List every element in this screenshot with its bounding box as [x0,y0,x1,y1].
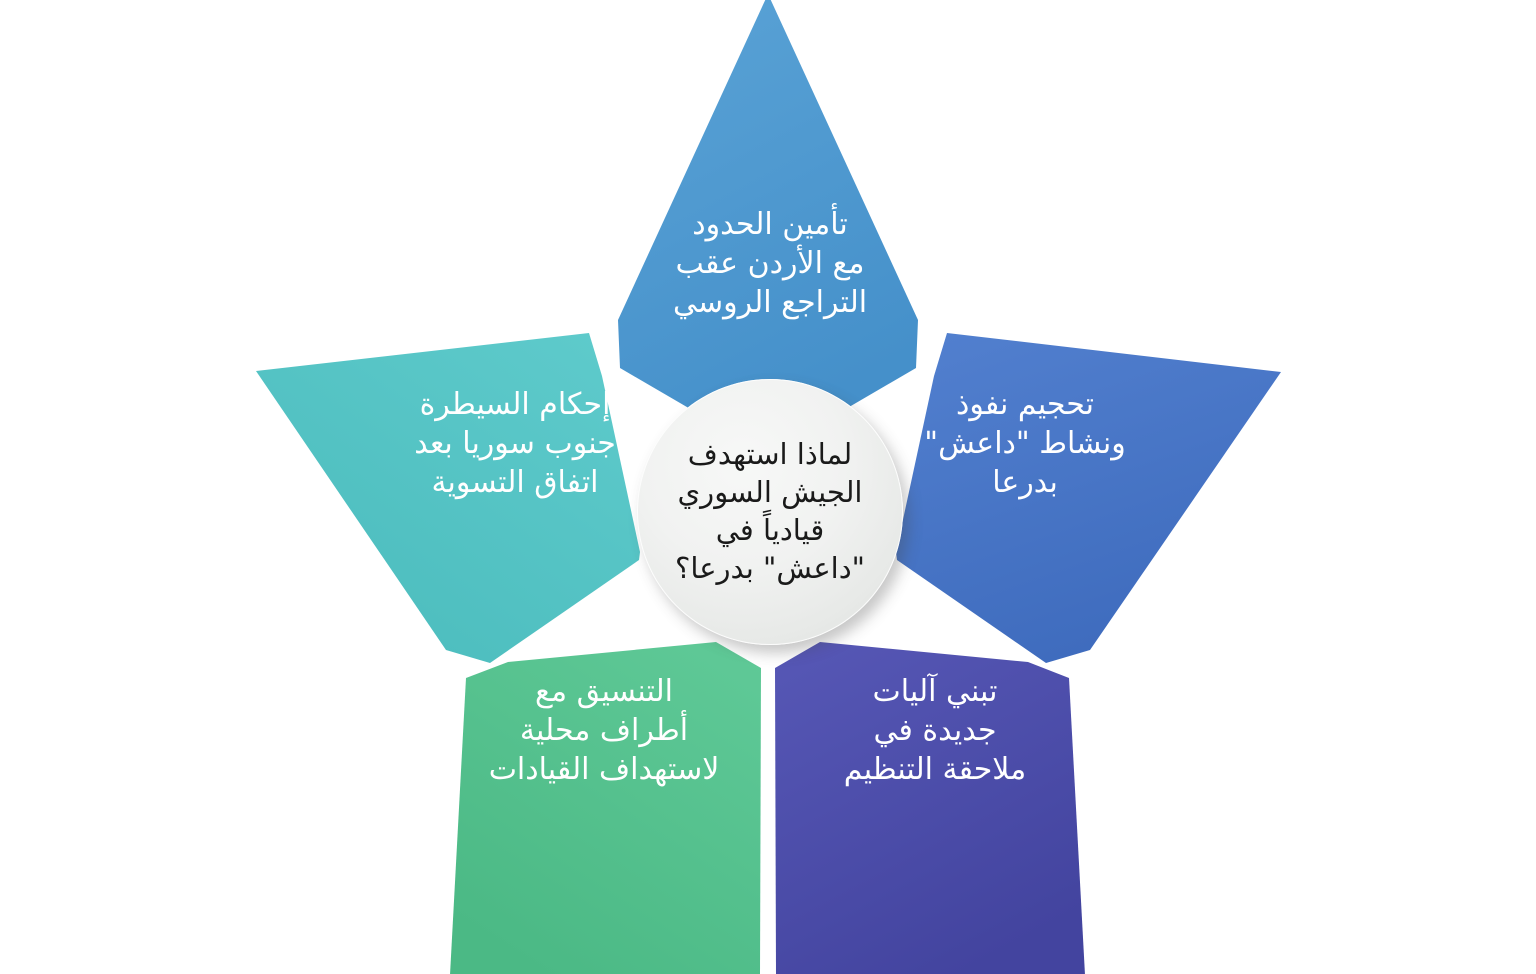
segment-label-bottom-right: تبني آليات جديدة في ملاحقة التنظيم [810,672,1060,789]
segment-label-right: تحجيم نفوذ ونشاط "داعش" بدرعا [900,385,1150,502]
center-question-text: لماذا استهدف الجيش السوري قيادياً في "دا… [655,436,885,588]
diagram-canvas: تأمين الحدود مع الأردن عقب التراجع الروس… [0,0,1536,974]
segment-label-bottom-left: التنسيق مع أطراف محلية لاستهداف القيادات [470,672,738,789]
segment-label-top: تأمين الحدود مع الأردن عقب التراجع الروس… [620,205,920,322]
segment-label-left: إحكام السيطرة جنوب سوريا بعد اتفاق التسو… [390,385,640,502]
center-circle-node[interactable]: لماذا استهدف الجيش السوري قيادياً في "دا… [637,379,903,645]
